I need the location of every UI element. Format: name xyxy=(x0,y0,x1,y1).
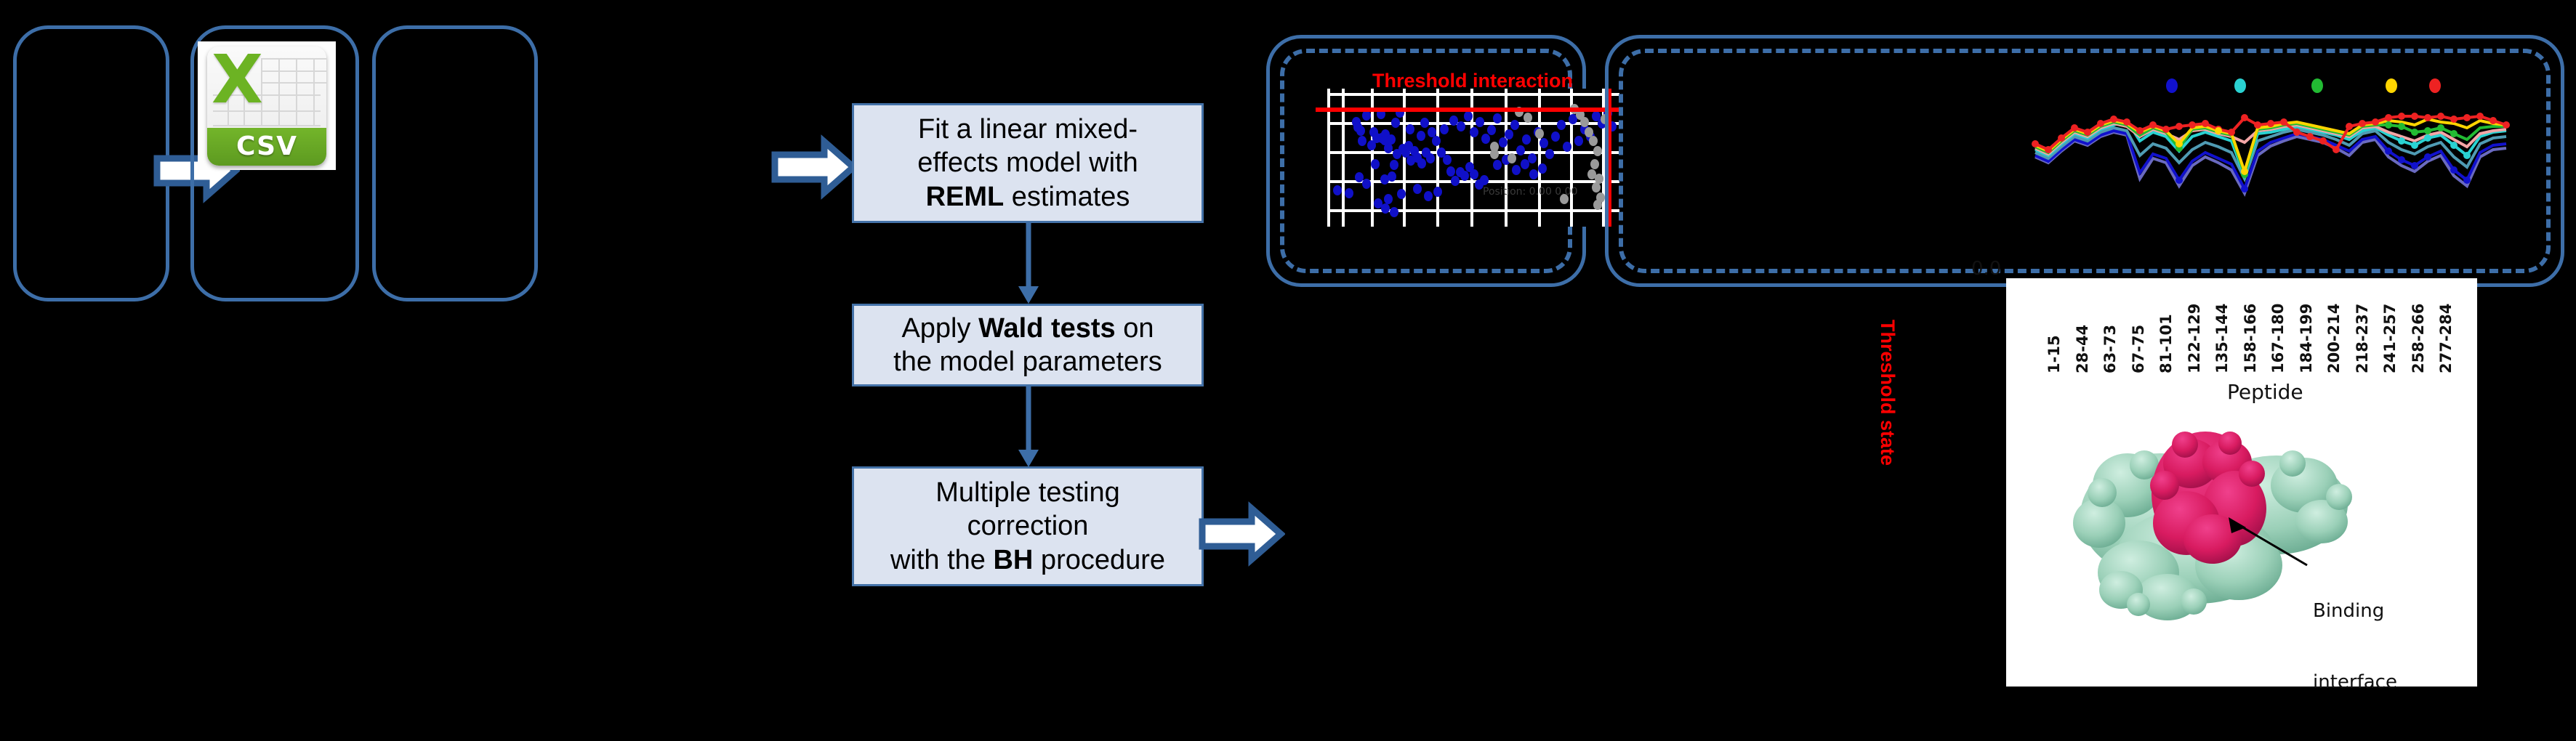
peptide-tick-7: 158-166 xyxy=(2242,304,2259,373)
binding-interface-label: Binding interface xyxy=(2313,552,2397,741)
step-model-box[interactable]: Fit a linear mixed- effects model with R… xyxy=(852,103,1204,223)
step-model-reml: REML xyxy=(926,182,1005,212)
csv-band-label: CSV xyxy=(236,131,297,161)
step-model-line2: effects model with xyxy=(917,147,1138,178)
threshold-state-label: Threshold state xyxy=(1876,320,1899,466)
csv-image: X CSV xyxy=(198,41,336,170)
arrow-csv-to-model xyxy=(770,134,858,200)
step-correction-post: procedure xyxy=(1033,545,1165,575)
arrow-model-to-wald xyxy=(1016,222,1041,309)
step-correction-text: Multiple testing correction with the BH … xyxy=(890,476,1165,577)
peptide-tick-11: 218-237 xyxy=(2354,304,2371,373)
peptide-tick-1: 28-44 xyxy=(2074,325,2091,373)
diagram-canvas: X CSV Fit a linear mixed- effects model … xyxy=(0,0,2576,687)
arrow-to-results xyxy=(1198,501,1285,567)
csv-file-icon: X CSV xyxy=(207,46,326,166)
peptide-tick-5: 122-129 xyxy=(2186,304,2203,373)
peptide-tick-10: 200-214 xyxy=(2325,304,2343,373)
step-model-line1: Fit a linear mixed- xyxy=(918,114,1138,145)
binding-interface-line1: Binding xyxy=(2313,599,2397,623)
step-model-line3: estimates xyxy=(1004,182,1130,212)
peptide-uptake-plot[interactable] xyxy=(2013,70,2522,201)
csv-band: CSV xyxy=(207,128,326,166)
step-wald-box[interactable]: Apply Wald tests on the model parameters xyxy=(852,304,1204,386)
step-correction-pre: with the xyxy=(890,545,994,575)
model-panel[interactable] xyxy=(372,25,538,301)
peptide-tick-2: 63-73 xyxy=(2101,325,2119,373)
peptide-tick-8: 167-180 xyxy=(2269,304,2287,373)
peptide-tick-9: 184-199 xyxy=(2298,304,2315,373)
step-wald-pre: Apply xyxy=(901,313,978,344)
peptide-tick-4: 81-101 xyxy=(2157,314,2175,373)
step-wald-bold: Wald tests xyxy=(978,313,1116,344)
input-panel[interactable] xyxy=(13,25,169,301)
peptide-tick-3: 67-75 xyxy=(2130,325,2147,373)
arrow-wald-to-correction xyxy=(1016,386,1041,472)
step-wald-post: on xyxy=(1116,313,1154,344)
step-correction-line1: Multiple testing xyxy=(935,477,1119,508)
peptide-tick-0: 1-15 xyxy=(2045,335,2063,373)
binding-interface-line2: interface xyxy=(2313,671,2397,695)
peptide-tick-12: 241-257 xyxy=(2381,304,2399,373)
volcano-plot[interactable]: Position: 0.00 0.00 xyxy=(1316,89,1621,227)
x-axis-title: Peptide xyxy=(2227,380,2303,404)
peptide-tick-13: 258-266 xyxy=(2410,304,2427,373)
step-model-text: Fit a linear mixed- effects model with R… xyxy=(917,113,1138,214)
step-correction-line2: correction xyxy=(967,511,1089,541)
step-wald-text: Apply Wald tests on the model parameters xyxy=(893,312,1162,379)
peptide-tick-6: 135-144 xyxy=(2213,304,2231,373)
step-correction-bh: BH xyxy=(993,545,1033,575)
step-wald-line2: the model parameters xyxy=(893,347,1162,377)
step-correction-box[interactable]: Multiple testing correction with the BH … xyxy=(852,466,1204,586)
y-tick-0: 0.0 xyxy=(1971,258,2001,280)
excel-x-glyph: X xyxy=(212,46,263,113)
peptide-tick-14: 277-284 xyxy=(2437,304,2455,373)
